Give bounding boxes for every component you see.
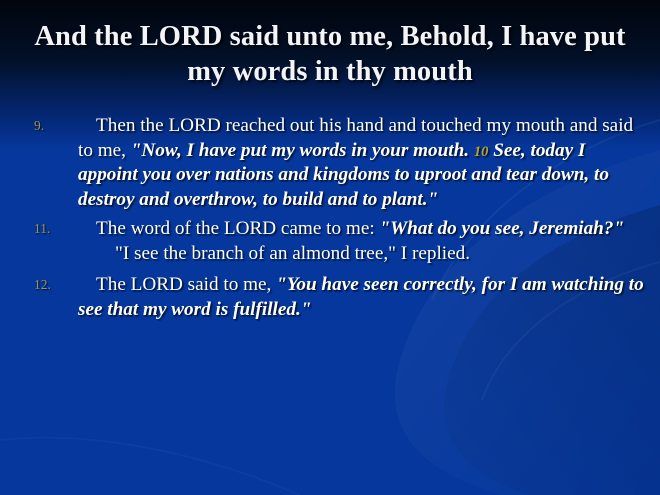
verse-item: 11. The word of the LORD came to me: "Wh… bbox=[0, 217, 660, 242]
verse-text-quote: "What do you see, Jeremiah?" bbox=[379, 218, 624, 239]
verse-number: 12. bbox=[34, 276, 51, 293]
verse-text-plain: The word of the LORD came to me: bbox=[78, 218, 379, 239]
verse-number: 9. bbox=[34, 117, 44, 134]
reply-line: "I see the branch of an almond tree," I … bbox=[0, 242, 660, 267]
verse-text-quote: "Now, I have put my words in your mouth. bbox=[131, 140, 474, 161]
verse-item: 12. The LORD said to me, "You have seen … bbox=[0, 273, 660, 322]
slide-body: 9. Then the LORD reached out his hand an… bbox=[0, 114, 660, 323]
verse-number: 11. bbox=[34, 220, 50, 237]
inline-verse-number: 10 bbox=[474, 144, 489, 160]
presentation-slide: And the LORD said unto me, Behold, I hav… bbox=[0, 0, 660, 495]
slide-title: And the LORD said unto me, Behold, I hav… bbox=[18, 20, 642, 90]
verse-item: 9. Then the LORD reached out his hand an… bbox=[0, 114, 660, 213]
verse-text-plain: The LORD said to me, bbox=[78, 274, 276, 295]
